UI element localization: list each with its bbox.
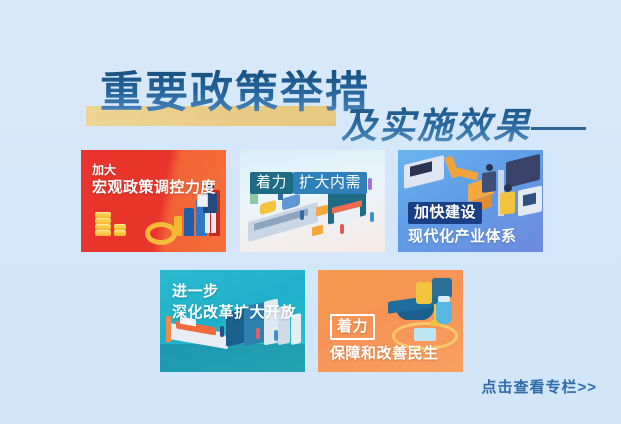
card-deepen-reform[interactable]: 进一步 深化改革扩大开放 <box>160 270 305 372</box>
page-subtitle: 及实施效果 <box>341 106 531 146</box>
card-demand-caption: 着力扩大内需 <box>250 172 367 194</box>
card-industry-caption-line1: 加快建设 <box>408 202 482 224</box>
card-demand-caption-line2: 扩大内需 <box>293 172 367 194</box>
coin-ring-icon <box>145 222 177 245</box>
card-reform-caption: 进一步 深化改革扩大开放 <box>172 282 296 322</box>
policy-poster: 重要政策举措 及实施效果 加大 宏观政策调控力度 <box>0 0 621 424</box>
card-industry-caption-line1-wrap: 加快建设 <box>408 202 517 224</box>
key-icon <box>416 282 432 304</box>
card-reform-caption-line1: 进一步 <box>172 282 296 301</box>
card-industry-caption: 加快建设 现代化产业体系 <box>408 202 517 246</box>
card-macro-caption: 加大 宏观政策调控力度 <box>92 163 216 197</box>
card-reform-caption-line2: 深化改革扩大开放 <box>172 303 296 322</box>
card-demand-caption-line1: 着力 <box>250 172 293 194</box>
card-macro-caption-line2: 宏观政策调控力度 <box>92 178 216 197</box>
page-title: 重要政策举措 <box>100 70 370 116</box>
card-improve-livelihood[interactable]: 着力 保障和改善民生 <box>318 270 463 372</box>
card-welfare-caption: 着力 保障和改善民生 <box>330 314 439 363</box>
poster-header: 重要政策举措 及实施效果 <box>0 34 621 129</box>
view-column-link[interactable]: 点击查看专栏>> <box>481 376 597 397</box>
card-welfare-caption-line2: 保障和改善民生 <box>330 344 439 363</box>
card-modern-industry[interactable]: 加快建设 现代化产业体系 <box>398 150 543 252</box>
card-industry-caption-line2: 现代化产业体系 <box>408 227 517 246</box>
card-welfare-caption-line1-wrap: 着力 <box>330 314 439 340</box>
card-welfare-caption-line1: 着力 <box>330 314 375 340</box>
card-macro-caption-line1: 加大 <box>92 163 216 178</box>
card-macro-policy[interactable]: 加大 宏观政策调控力度 <box>81 150 226 252</box>
card-expand-demand[interactable]: 着力扩大内需 <box>240 150 385 252</box>
title-rule <box>531 127 586 130</box>
